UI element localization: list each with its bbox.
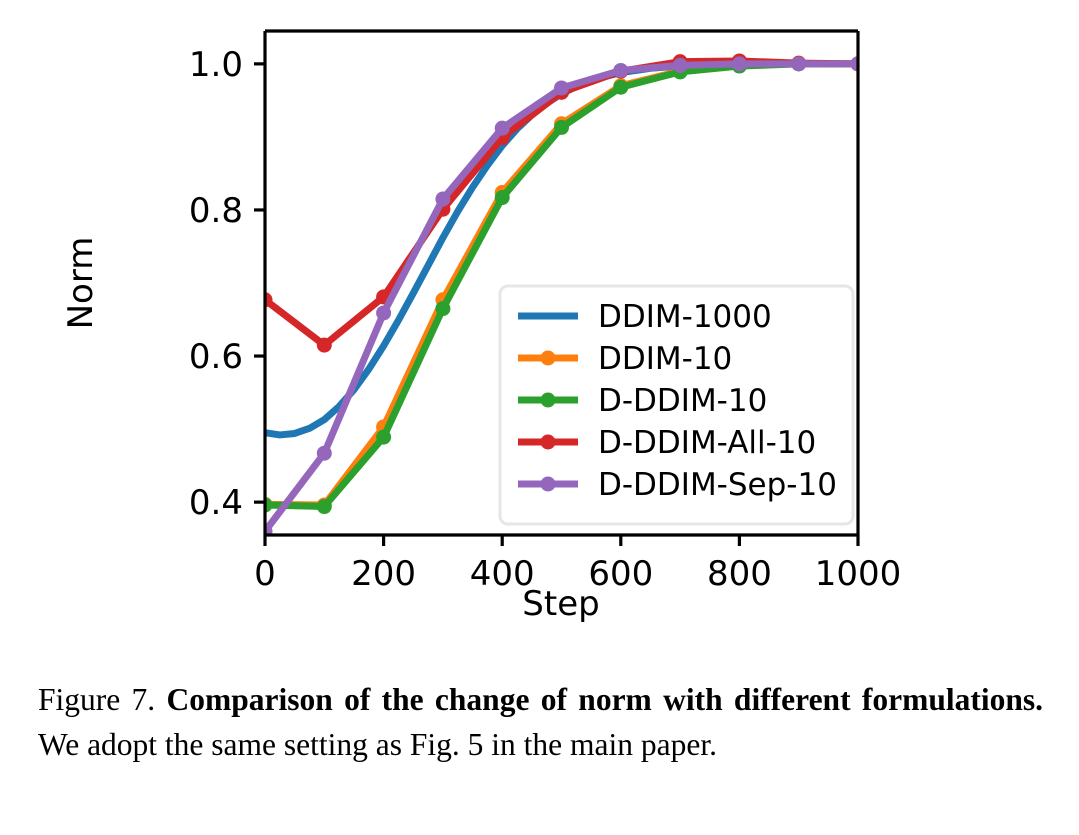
chart-plot-area: 02004006008001000 0.40.60.81.0 Step Norm…: [0, 0, 1079, 650]
data-point-marker: [673, 58, 688, 73]
legend-label: DDIM-1000: [598, 299, 772, 335]
x-tick-label: 1000: [815, 554, 902, 594]
legend-label: D-DDIM-10: [598, 383, 767, 419]
legend-swatch-marker: [541, 435, 556, 450]
legend-label: D-DDIM-Sep-10: [598, 467, 837, 503]
y-tick-label: 0.8: [189, 191, 243, 231]
legend-swatch-marker: [541, 393, 556, 408]
caption-body-text: We adopt the same setting as Fig. 5 in t…: [38, 727, 717, 762]
legend-swatch-marker: [541, 351, 556, 366]
norm-vs-step-line-chart: 02004006008001000 0.40.60.81.0 Step Norm…: [0, 0, 1079, 650]
data-point-marker: [495, 190, 510, 205]
x-axis-title: Step: [522, 584, 599, 624]
x-tick-label: 0: [254, 554, 276, 594]
legend-label: D-DDIM-All-10: [598, 425, 816, 461]
legend-label: DDIM-10: [598, 341, 732, 377]
data-point-marker: [613, 63, 628, 78]
caption-figure-number: Figure 7.: [38, 682, 155, 717]
legend-swatch-marker: [541, 477, 556, 492]
data-point-marker: [791, 56, 806, 71]
figure-caption: Figure 7. Comparison of the change of no…: [38, 678, 1043, 767]
caption-bold-title: Comparison of the change of norm with di…: [167, 682, 1044, 717]
data-point-marker: [554, 120, 569, 135]
y-tick-label: 1.0: [189, 45, 243, 85]
y-tick-label: 0.4: [189, 483, 243, 523]
data-point-marker: [317, 499, 332, 514]
data-point-marker: [317, 446, 332, 461]
data-point-marker: [376, 305, 391, 320]
x-tick-label: 800: [707, 554, 772, 594]
data-point-marker: [554, 80, 569, 95]
data-point-marker: [732, 56, 747, 71]
data-point-marker: [435, 301, 450, 316]
data-point-marker: [495, 121, 510, 136]
y-tick-label: 0.6: [189, 337, 243, 377]
data-point-marker: [376, 430, 391, 445]
figure-container: 02004006008001000 0.40.60.81.0 Step Norm…: [0, 0, 1079, 835]
chart-legend[interactable]: DDIM-1000DDIM-10D-DDIM-10D-DDIM-All-10D-…: [500, 286, 853, 524]
data-point-marker: [317, 338, 332, 353]
y-axis-title: Norm: [61, 237, 101, 330]
data-point-marker: [435, 192, 450, 207]
data-point-marker: [613, 80, 628, 95]
x-tick-label: 200: [351, 554, 416, 594]
